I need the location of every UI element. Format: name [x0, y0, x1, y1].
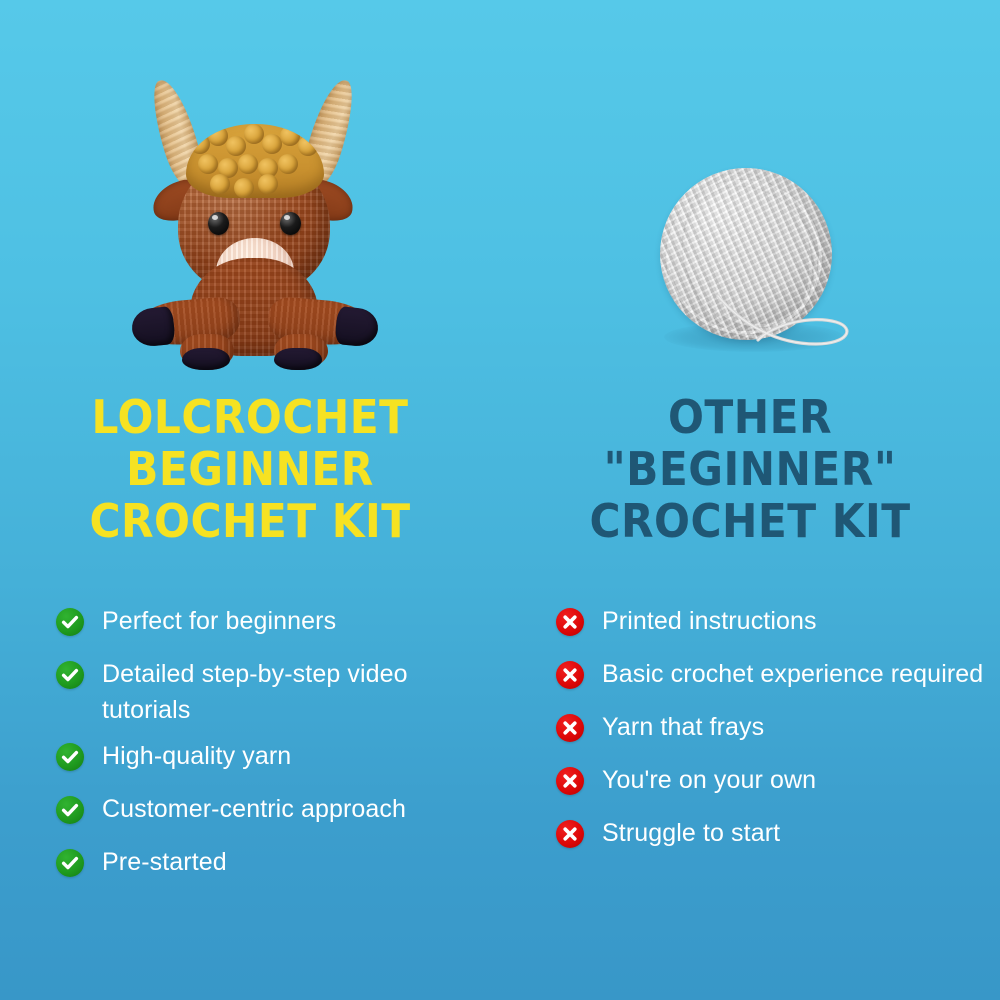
fringe-curl [258, 174, 278, 194]
cow-curly-fringe [186, 124, 324, 198]
comparison-columns: LOLCROCHET BEGINNER CROCHET KIT Perfect … [0, 0, 1000, 1000]
cross-circle-icon [556, 820, 584, 848]
fringe-curl [210, 174, 230, 194]
list-item-label: Pre-started [102, 845, 227, 881]
left-heading-line-3: CROCHET KIT [20, 496, 480, 548]
check-circle-icon [56, 743, 84, 771]
list-item-label: Perfect for beginners [102, 604, 336, 640]
comparison-graphic: LOLCROCHET BEGINNER CROCHET KIT Perfect … [0, 0, 1000, 1000]
list-item-label: Basic crochet experience required [602, 657, 983, 693]
cow-eye-left [208, 212, 229, 235]
list-item: Customer-centric approach [56, 792, 496, 834]
list-item-label: Customer-centric approach [102, 792, 406, 828]
fringe-curl [262, 134, 282, 154]
fringe-curl [238, 154, 258, 174]
right-heading-line-2: "BEGINNER" [520, 444, 980, 496]
left-heading: LOLCROCHET BEGINNER CROCHET KIT [20, 392, 480, 548]
yarn-loose-tail [712, 288, 912, 368]
list-item: Yarn that frays [556, 710, 996, 752]
list-item: High-quality yarn [56, 739, 496, 781]
list-item-label: Yarn that frays [602, 710, 764, 746]
list-item: Printed instructions [556, 604, 996, 646]
check-circle-icon [56, 796, 84, 824]
right-heading-line-3: CROCHET KIT [520, 496, 980, 548]
left-heading-line-2: BEGINNER [20, 444, 480, 496]
left-feature-list: Perfect for beginners Detailed step-by-s… [56, 604, 496, 898]
cow-eye-right [280, 212, 301, 235]
list-item-label: Struggle to start [602, 816, 780, 852]
fringe-curl [278, 154, 298, 174]
list-item-label: Printed instructions [602, 604, 817, 640]
fringe-curl [298, 136, 318, 156]
list-item-label: High-quality yarn [102, 739, 291, 775]
cow-hoof-back-left [182, 348, 230, 370]
right-feature-list: Printed instructions Basic crochet exper… [556, 604, 996, 869]
check-circle-icon [56, 608, 84, 636]
list-item: You're on your own [556, 763, 996, 805]
left-heading-line-1: LOLCROCHET [20, 392, 480, 444]
list-item: Basic crochet experience required [556, 657, 996, 699]
list-item-label: Detailed step-by-step video tutorials [102, 657, 496, 728]
cross-circle-icon [556, 714, 584, 742]
fringe-curl [190, 134, 210, 154]
right-heading-line-1: OTHER [520, 392, 980, 444]
right-column: OTHER "BEGINNER" CROCHET KIT Printed ins… [500, 0, 1000, 1000]
left-column: LOLCROCHET BEGINNER CROCHET KIT Perfect … [0, 0, 500, 1000]
fringe-curl [244, 124, 264, 144]
crochet-highland-cow-plush [104, 62, 404, 362]
cross-circle-icon [556, 661, 584, 689]
list-item: Perfect for beginners [56, 604, 496, 646]
grey-yarn-ball [660, 168, 860, 368]
list-item-label: You're on your own [602, 763, 816, 799]
fringe-curl [280, 126, 300, 146]
list-item: Pre-started [56, 845, 496, 887]
cross-circle-icon [556, 767, 584, 795]
fringe-curl [198, 154, 218, 174]
check-circle-icon [56, 661, 84, 689]
list-item: Detailed step-by-step video tutorials [56, 657, 496, 728]
list-item: Struggle to start [556, 816, 996, 858]
right-heading: OTHER "BEGINNER" CROCHET KIT [520, 392, 980, 548]
check-circle-icon [56, 849, 84, 877]
cross-circle-icon [556, 608, 584, 636]
right-product-image [500, 0, 1000, 390]
cow-hoof-back-right [274, 348, 322, 370]
fringe-curl [234, 178, 254, 198]
left-product-image [0, 0, 500, 390]
fringe-curl [226, 136, 246, 156]
fringe-curl [208, 126, 228, 146]
